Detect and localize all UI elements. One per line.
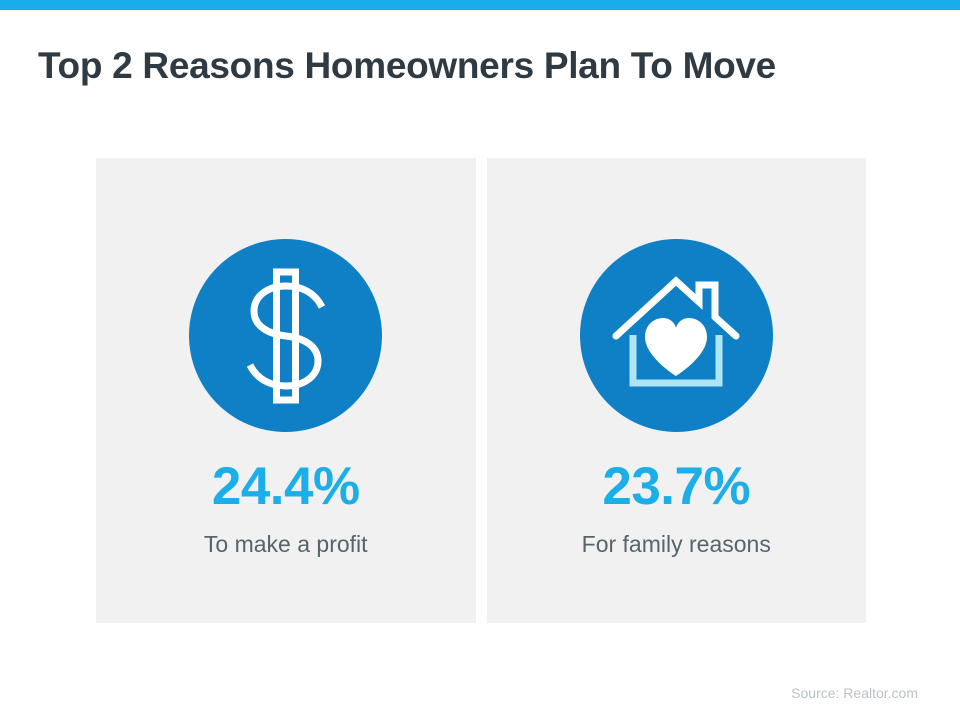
top-accent-bar bbox=[0, 0, 960, 10]
stat-card-family: 23.7% For family reasons bbox=[487, 158, 867, 623]
stat-value: 23.7% bbox=[602, 458, 750, 516]
page-title: Top 2 Reasons Homeowners Plan To Move bbox=[38, 44, 776, 88]
house-heart-icon bbox=[611, 273, 741, 398]
source-attribution: Source: Realtor.com bbox=[791, 684, 918, 702]
stat-card-profit: 24.4% To make a profit bbox=[96, 158, 476, 623]
stat-cards-row: 24.4% To make a profit 23.7% For family … bbox=[96, 158, 866, 623]
stat-value: 24.4% bbox=[212, 458, 360, 516]
house-heart-icon-circle bbox=[580, 239, 773, 432]
dollar-sign-icon-circle bbox=[189, 239, 382, 432]
stat-label: For family reasons bbox=[582, 530, 771, 558]
stat-label: To make a profit bbox=[204, 530, 368, 558]
dollar-sign-icon bbox=[230, 266, 342, 406]
